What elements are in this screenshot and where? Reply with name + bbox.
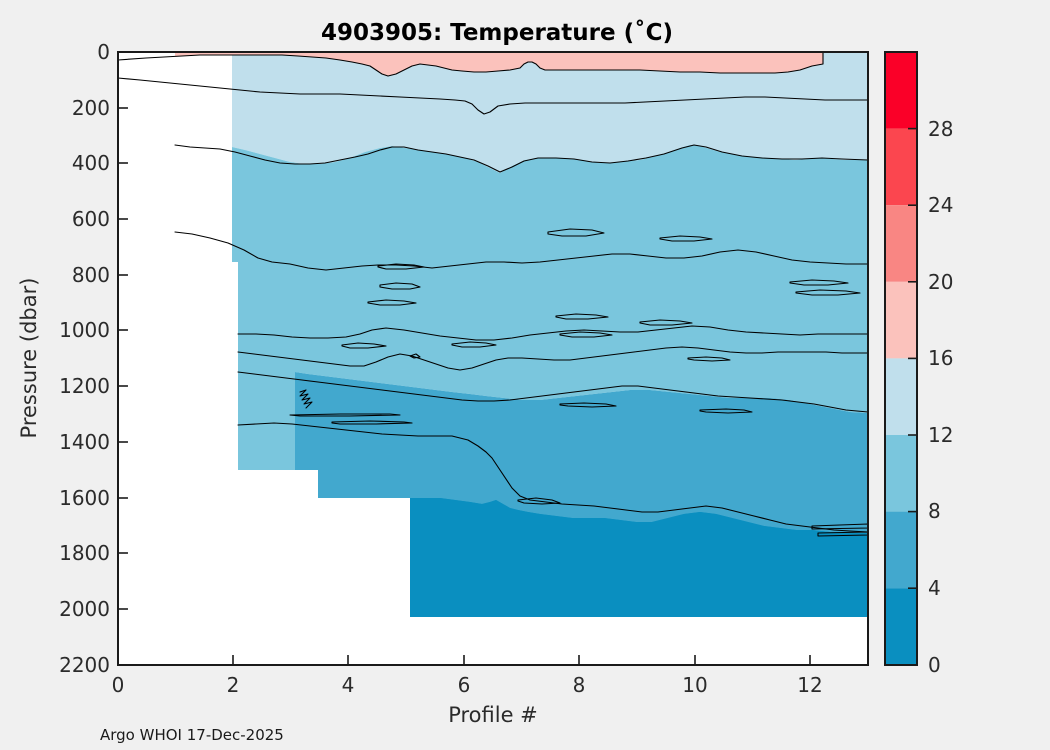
colorbar-band-4-8 xyxy=(885,512,917,589)
nodata-mask-bottom xyxy=(410,617,868,665)
x-tick-label-10: 10 xyxy=(682,673,707,697)
colorbar-band-12-16 xyxy=(885,358,917,435)
x-axis-label: Profile # xyxy=(448,703,538,727)
x-tick-label-0: 0 xyxy=(112,673,125,697)
y-tick-label-1800: 1800 xyxy=(59,541,110,565)
colorbar-band-0-4 xyxy=(885,588,917,665)
x-tick-label-4: 4 xyxy=(342,673,355,697)
plot-area xyxy=(118,52,868,665)
colorbar-band-8-12 xyxy=(885,435,917,512)
y-tick-label-1000: 1000 xyxy=(59,318,110,342)
page-title: 4903905: Temperature (˚C) xyxy=(321,19,673,46)
colorbar-tick-label-20: 20 xyxy=(928,270,953,294)
y-tick-label-2000: 2000 xyxy=(59,597,110,621)
colorbar-band-28-32 xyxy=(885,52,917,129)
colorbar-band-16-20 xyxy=(885,282,917,359)
colorbar-band-24-28 xyxy=(885,129,917,206)
colorbar-tick-label-28: 28 xyxy=(928,117,953,141)
y-tick-label-0: 0 xyxy=(97,40,110,64)
argo-temperature-section-figure: 4903905: Temperature (˚C) xyxy=(0,0,1050,750)
colorbar-tick-label-16: 16 xyxy=(928,346,953,370)
x-tick-label-6: 6 xyxy=(458,673,471,697)
colorbar-tick-label-4: 4 xyxy=(928,576,941,600)
footer-credit: Argo WHOI 17-Dec-2025 xyxy=(100,726,284,744)
x-tick-label-2: 2 xyxy=(227,673,240,697)
x-tick-label-12: 12 xyxy=(797,673,822,697)
y-tick-label-200: 200 xyxy=(72,96,110,120)
colorbar-tick-label-24: 24 xyxy=(928,193,953,217)
y-tick-label-800: 800 xyxy=(72,263,110,287)
y-tick-label-1200: 1200 xyxy=(59,374,110,398)
y-tick-label-1600: 1600 xyxy=(59,486,110,510)
y-tick-label-1400: 1400 xyxy=(59,430,110,454)
y-tick-label-400: 400 xyxy=(72,151,110,175)
x-tick-label-8: 8 xyxy=(573,673,586,697)
y-axis-label: Pressure (dbar) xyxy=(17,278,41,439)
colorbar-tick-label-0: 0 xyxy=(928,653,941,677)
colorbar-tick-label-12: 12 xyxy=(928,423,953,447)
y-tick-label-2200: 2200 xyxy=(59,653,110,677)
colorbar-band-20-24 xyxy=(885,205,917,282)
colorbar-tick-label-8: 8 xyxy=(928,499,941,523)
y-tick-label-600: 600 xyxy=(72,207,110,231)
